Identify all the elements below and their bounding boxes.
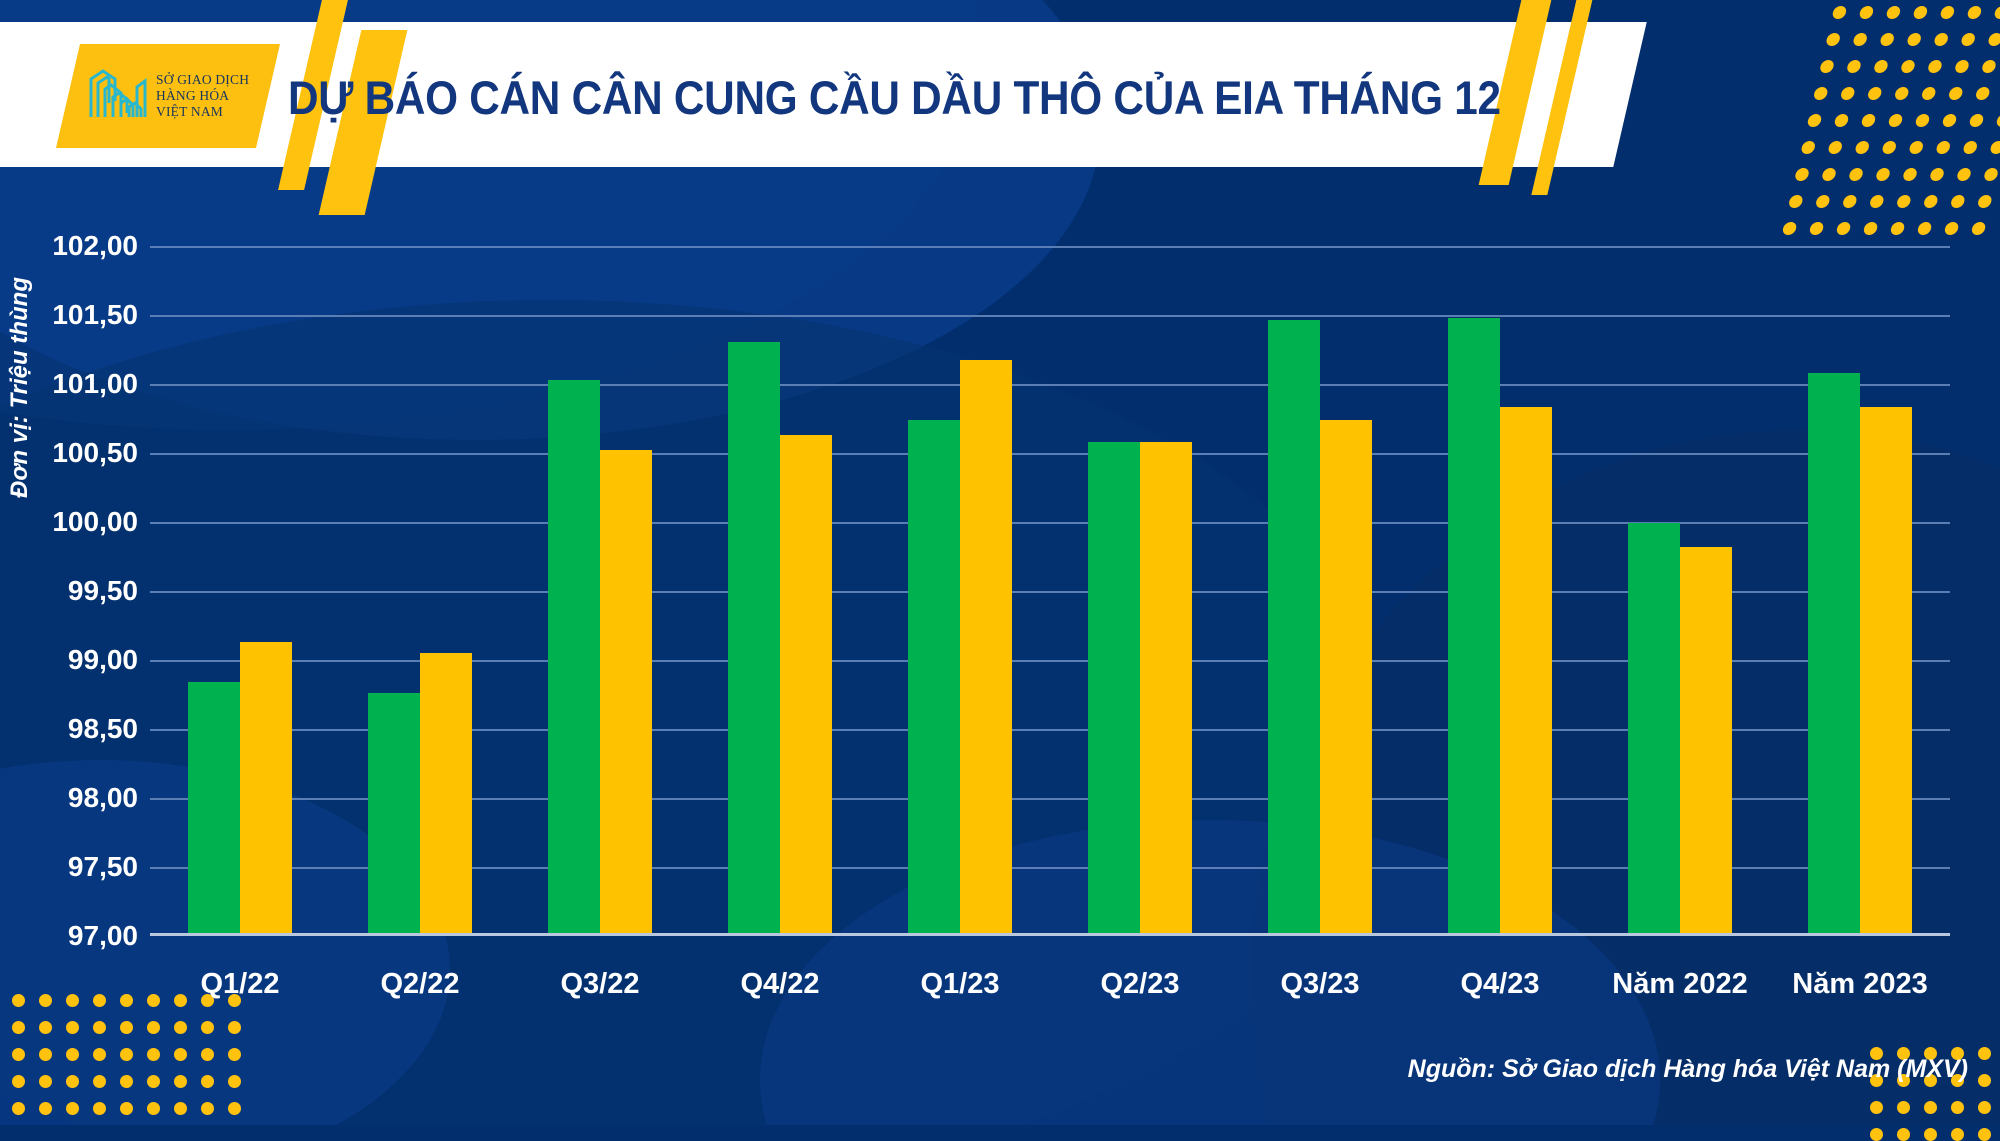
y-axis-tick-label: 97,50 [0, 851, 138, 883]
bar-demand[interactable] [1680, 547, 1732, 933]
bar-supply[interactable] [1088, 442, 1140, 933]
y-axis-tick-label: 98,50 [0, 713, 138, 745]
bar-supply[interactable] [548, 380, 600, 933]
bar-demand[interactable] [1860, 407, 1912, 933]
x-axis-tick-label: Q4/22 [690, 968, 870, 1001]
bar-group [690, 246, 870, 933]
bar-group [510, 246, 690, 933]
bar-group [1410, 246, 1590, 933]
y-axis-tick-label: 102,00 [0, 230, 138, 262]
bar-supply[interactable] [1628, 523, 1680, 933]
bar-group [1590, 246, 1770, 933]
bar-group [870, 246, 1050, 933]
source-note: Nguồn: Sở Giao dịch Hàng hóa Việt Nam (M… [1408, 1055, 1968, 1084]
plot-area: 102,00101,50101,00100,50100,0099,5099,00… [150, 246, 1950, 936]
y-axis-tick-label: 100,00 [0, 506, 138, 538]
y-axis-tick-label: 101,00 [0, 368, 138, 400]
x-axis-line [150, 933, 1950, 936]
page-title: DỰ BÁO CÁN CÂN CUNG CẦU DẦU THÔ CỦA EIA … [288, 66, 1350, 130]
x-axis-tick-label: Q2/23 [1050, 968, 1230, 1001]
bar-demand[interactable] [780, 435, 832, 933]
x-axis-tick-label: Q3/22 [510, 968, 690, 1001]
y-axis-tick-label: 98,00 [0, 782, 138, 814]
x-axis-tick-label: Năm 2023 [1770, 968, 1950, 1001]
bar-supply[interactable] [908, 420, 960, 933]
y-axis-tick-label: 101,50 [0, 299, 138, 331]
x-axis-tick-label: Q1/23 [870, 968, 1050, 1001]
brand-logo: SỞ GIAO DỊCH HÀNG HÓA VIỆT NAM [56, 44, 280, 148]
bar-supply[interactable] [1448, 318, 1500, 933]
bar-groups [150, 246, 1950, 933]
bar-demand[interactable] [600, 450, 652, 933]
bar-group [150, 246, 330, 933]
x-axis-tick-label: Q4/23 [1410, 968, 1590, 1001]
bar-supply[interactable] [368, 693, 420, 933]
mxv-weave-logo-icon [87, 67, 149, 125]
brand-line-2: HÀNG HÓA [156, 88, 249, 104]
y-axis-tick-label: 97,00 [0, 920, 138, 952]
y-axis-tick-label: 99,00 [0, 644, 138, 676]
bar-demand[interactable] [960, 360, 1012, 933]
x-axis-tick-label: Năm 2022 [1590, 968, 1770, 1001]
brand-logo-text: SỞ GIAO DỊCH HÀNG HÓA VIỆT NAM [156, 72, 249, 120]
bar-supply[interactable] [728, 342, 780, 933]
bar-demand[interactable] [1500, 407, 1552, 933]
chart-container: Đơn vị: Triệu thùng 102,00101,50101,0010… [0, 198, 2000, 1018]
x-axis-tick-label: Q2/22 [330, 968, 510, 1001]
bar-supply[interactable] [188, 682, 240, 933]
brand-line-3: VIỆT NAM [156, 104, 249, 120]
bar-supply[interactable] [1268, 320, 1320, 933]
x-axis-tick-label: Q3/23 [1230, 968, 1410, 1001]
y-axis-tick-label: 100,50 [0, 437, 138, 469]
bar-group [1230, 246, 1410, 933]
brand-line-1: SỞ GIAO DỊCH [156, 72, 249, 88]
bar-demand[interactable] [1140, 442, 1192, 933]
bar-demand[interactable] [1320, 420, 1372, 933]
x-axis-tick-label: Q1/22 [150, 968, 330, 1001]
bar-group [1770, 246, 1950, 933]
y-axis-tick-label: 99,50 [0, 575, 138, 607]
bar-demand[interactable] [240, 642, 292, 933]
bar-supply[interactable] [1808, 373, 1860, 933]
bar-demand[interactable] [420, 653, 472, 933]
x-axis-ticks: Q1/22Q2/22Q3/22Q4/22Q1/23Q2/23Q3/23Q4/23… [150, 968, 1950, 1001]
bar-group [330, 246, 510, 933]
bar-group [1050, 246, 1230, 933]
